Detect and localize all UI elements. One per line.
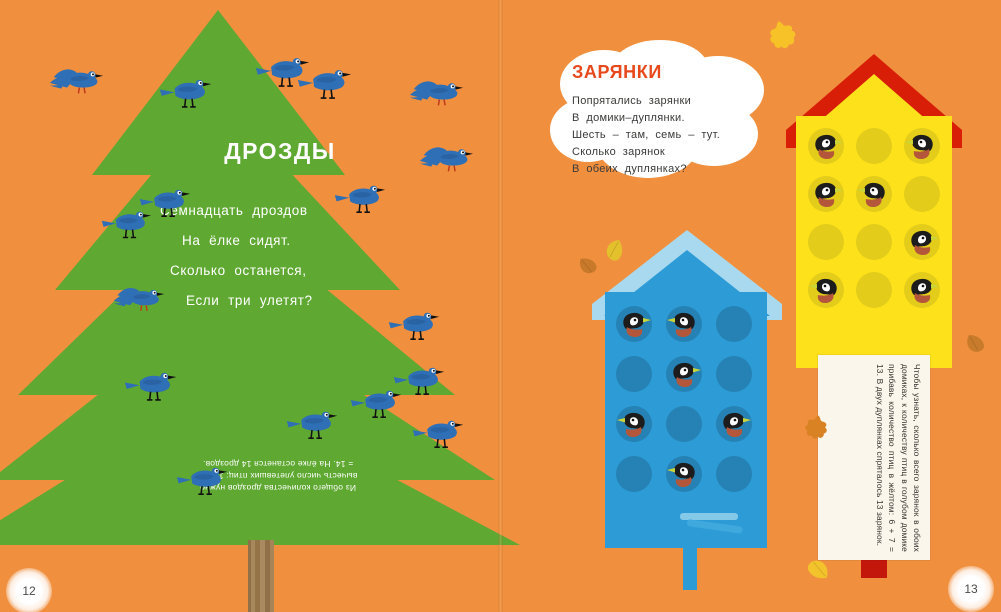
perching-thrush-icon <box>296 62 355 104</box>
poem-line: Сколько останется, <box>160 256 420 286</box>
page-title-zaryanki: ЗАРЯНКИ <box>572 62 662 83</box>
perching-thrush-icon <box>387 305 443 345</box>
flying-thrush-icon <box>408 74 467 116</box>
birdhouse-hole[interactable] <box>666 406 702 442</box>
perching-thrush-icon <box>175 460 231 500</box>
thrush-bird <box>387 305 443 349</box>
robin-in-hole <box>667 309 701 344</box>
thrush-bird <box>175 460 231 504</box>
thrush-bird <box>418 140 477 187</box>
perching-thrush-icon <box>349 383 405 423</box>
birdhouse-hole[interactable] <box>616 356 652 392</box>
poem-line: В домики–дуплянки. <box>572 110 762 127</box>
robin-bird-icon <box>905 275 939 305</box>
thrush-bird <box>408 74 467 121</box>
robin-bird-icon <box>905 131 939 161</box>
robin-in-hole <box>809 275 843 310</box>
perching-thrush-icon <box>333 178 389 218</box>
robin-bird-icon <box>617 409 651 439</box>
perching-thrush-icon <box>158 72 215 112</box>
robin-bird-icon <box>667 459 701 489</box>
blue-birdhouse[interactable] <box>592 228 782 548</box>
page-number-right: 13 <box>948 566 994 612</box>
robin-in-hole <box>717 409 751 444</box>
thrush-bird <box>112 281 168 325</box>
birdhouse-hole[interactable] <box>856 224 892 260</box>
thrush-bird <box>123 365 180 410</box>
perching-thrush-icon <box>100 204 155 243</box>
thrush-bird <box>158 72 215 117</box>
book-spread: ДРОЗДЫ Семнадцать дроздов На ёлке сидят.… <box>0 0 1001 612</box>
flying-thrush-icon <box>112 281 168 321</box>
leaf-orange-low <box>800 411 833 448</box>
robin-in-hole <box>617 309 651 344</box>
robin-bird-icon <box>809 131 843 161</box>
yellow-birdhouse[interactable] <box>786 48 962 368</box>
poem-line: Попрятались зарянки <box>572 93 762 110</box>
flying-thrush-icon <box>48 62 107 104</box>
robin-bird-icon <box>857 179 891 209</box>
birdhouse-hole[interactable] <box>856 128 892 164</box>
robin-in-hole <box>905 275 939 310</box>
robin-bird-icon <box>617 309 651 339</box>
robin-bird-icon <box>667 309 701 339</box>
perching-thrush-icon <box>411 413 467 453</box>
robin-bird-icon <box>905 227 939 257</box>
robin-bird-icon <box>717 409 751 439</box>
birdhouse-hole[interactable] <box>856 272 892 308</box>
answer-text-zaryanki: Чтобы узнать, сколько всего зарянок в об… <box>874 364 923 552</box>
robin-in-hole <box>667 359 701 394</box>
thrush-bird <box>296 62 355 109</box>
robin-bird-icon <box>809 275 843 305</box>
poem-line: Шесть – там, семь – тут. <box>572 127 762 144</box>
robin-in-hole <box>905 227 939 262</box>
poem-zaryanki: Попрятались зарянки В домики–дуплянки. Ш… <box>572 93 762 178</box>
robin-bird-icon <box>667 359 701 389</box>
poem-line: Если три улетят? <box>160 286 420 316</box>
answer-card-zaryanki: Чтобы узнать, сколько всего зарянок в об… <box>818 355 930 560</box>
leaf-icon <box>801 411 833 443</box>
robin-in-hole <box>905 131 939 166</box>
perching-thrush-icon <box>123 365 180 405</box>
thrush-bird <box>411 413 467 457</box>
flying-thrush-icon <box>418 140 477 182</box>
robin-in-hole <box>809 179 843 214</box>
poem-line: Сколько зарянок <box>572 144 762 161</box>
robin-bird-icon <box>809 179 843 209</box>
perching-thrush-icon <box>285 404 341 444</box>
birdhouse-hole[interactable] <box>616 456 652 492</box>
thrush-bird <box>333 178 389 222</box>
robin-in-hole <box>667 459 701 494</box>
robin-in-hole <box>809 131 843 166</box>
thrush-bird <box>285 404 341 448</box>
tree-trunk <box>248 540 274 612</box>
birdhouse-hole[interactable] <box>716 306 752 342</box>
birdhouse-hole[interactable] <box>808 224 844 260</box>
birdhouse-hole[interactable] <box>716 356 752 392</box>
thrush-bird <box>48 62 107 109</box>
thrush-bird <box>100 204 155 247</box>
birdhouse-hole[interactable] <box>716 456 752 492</box>
thrush-bird <box>349 383 405 427</box>
poem-line: В обеих дуплянках? <box>572 161 762 178</box>
robin-in-hole <box>857 179 891 214</box>
birdhouse-hole[interactable] <box>904 176 940 212</box>
page-number-left: 12 <box>6 568 52 612</box>
poem-line: На ёлке сидят. <box>160 226 420 256</box>
robin-in-hole <box>617 409 651 444</box>
